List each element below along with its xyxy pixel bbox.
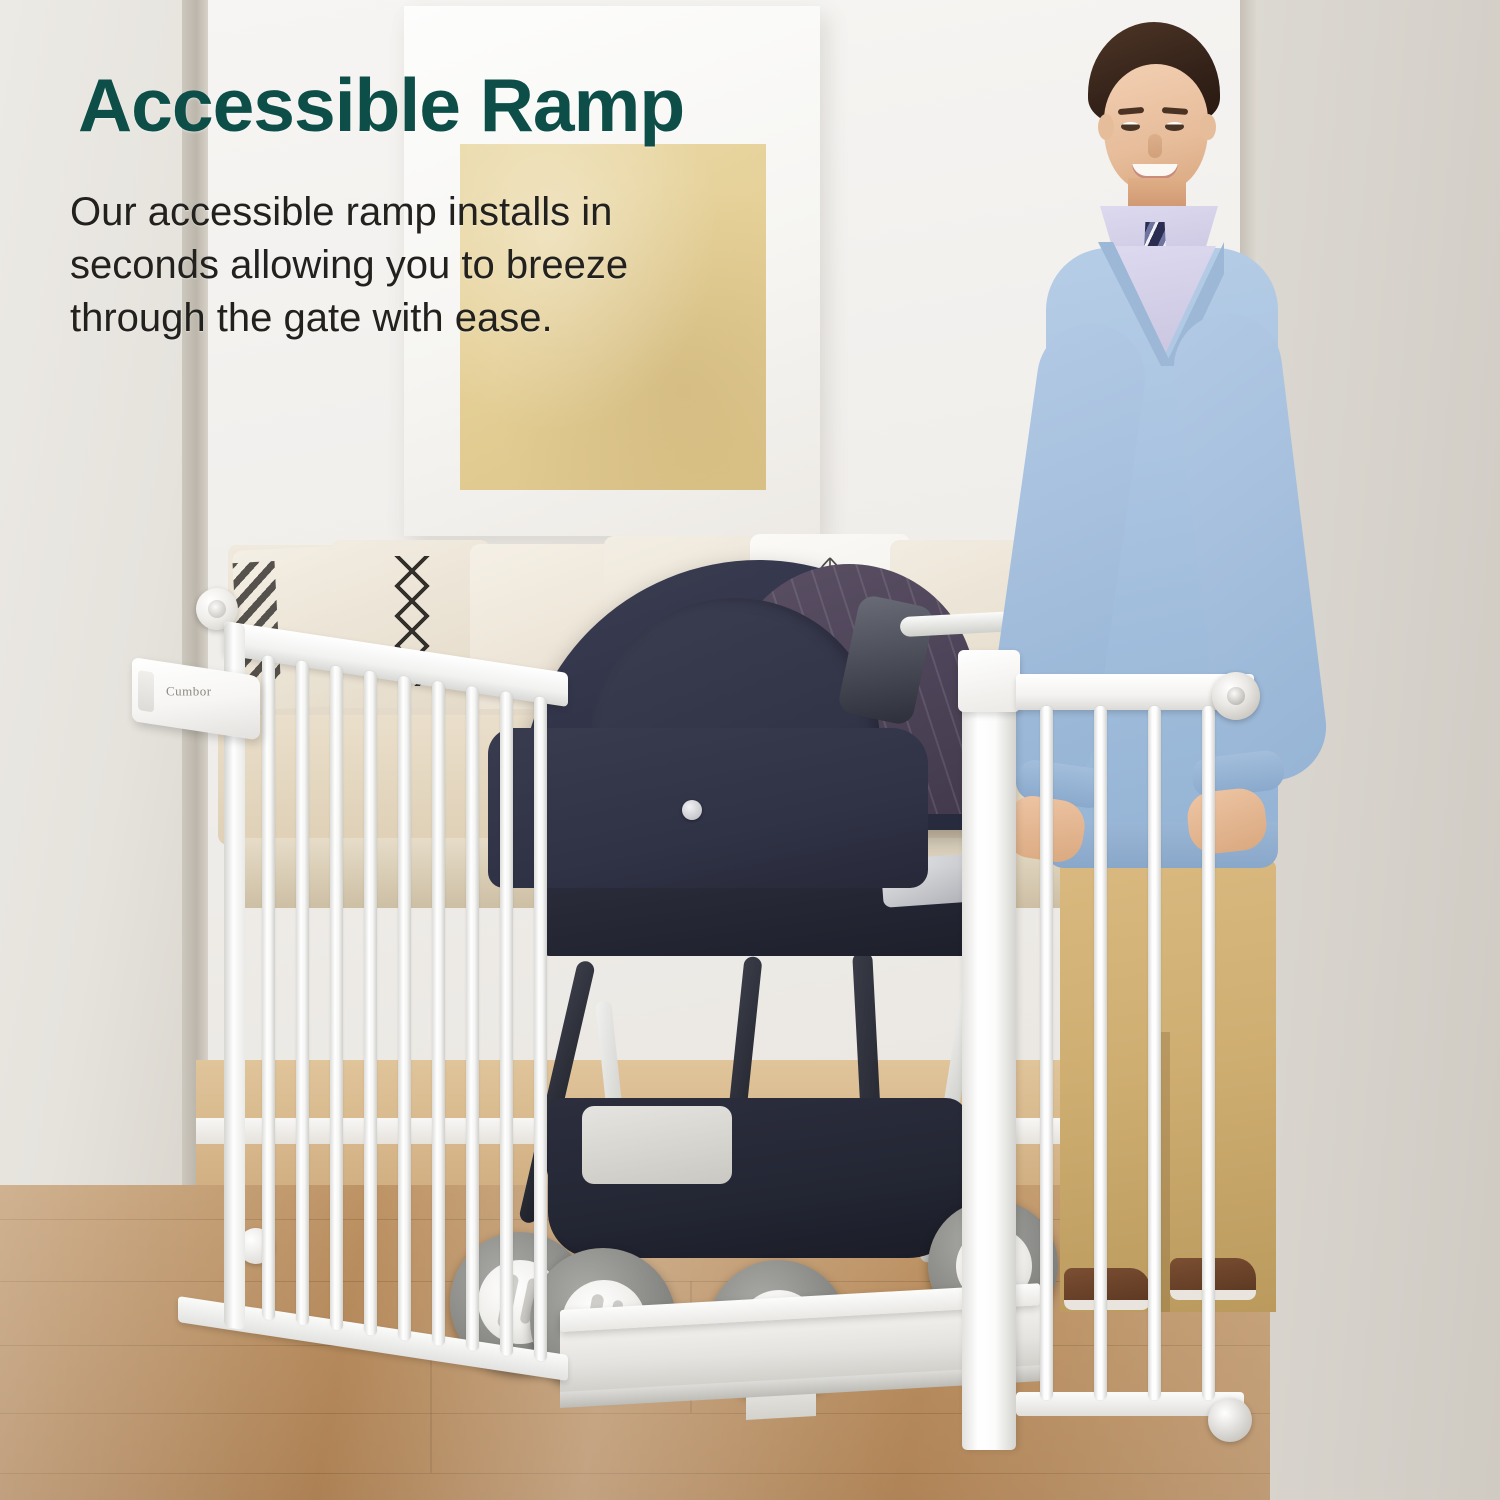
brand-label: Cumbor (166, 684, 212, 700)
ear (1098, 114, 1114, 140)
ear (1200, 114, 1216, 140)
description-text: Our accessible ramp installs in seconds … (70, 186, 880, 344)
bracket-nub (138, 670, 154, 712)
gate-bar (534, 696, 547, 1362)
description-line-3: through the gate with ease. (70, 292, 880, 345)
description-line-1: Our accessible ramp installs in (70, 186, 880, 239)
gate-bar (1094, 706, 1107, 1400)
nose (1148, 134, 1162, 158)
gate-bar (500, 691, 513, 1357)
gate-post-cap (958, 650, 1020, 712)
gate-bar (398, 675, 411, 1341)
gate-bar (1040, 706, 1053, 1400)
basket-liner (582, 1106, 732, 1184)
eye (1165, 122, 1184, 131)
description-line-2: seconds allowing you to breeze (70, 239, 880, 292)
product-feature-image: Cumbor Accessible Ramp Our accessible ra… (0, 0, 1500, 1500)
pressure-mount-knob[interactable] (1212, 672, 1260, 720)
gate-bar (1202, 706, 1215, 1400)
gate-bar (296, 660, 309, 1326)
gate-bar (262, 655, 275, 1321)
gate-fixed-panel[interactable] (962, 650, 1254, 1460)
stroller-basket (548, 1098, 968, 1258)
gate-bar (466, 686, 479, 1352)
pressure-mount-knob[interactable] (1208, 1398, 1252, 1442)
gate-bar (364, 670, 377, 1336)
page-title: Accessible Ramp (78, 68, 684, 143)
gate-bar (330, 665, 343, 1331)
gate-post (962, 660, 1016, 1450)
eye (1121, 122, 1140, 131)
gate-bar (432, 680, 445, 1346)
gate-door-panel[interactable]: Cumbor (138, 600, 568, 1475)
canopy-snap-button (682, 800, 702, 820)
gate-bar (1148, 706, 1161, 1400)
